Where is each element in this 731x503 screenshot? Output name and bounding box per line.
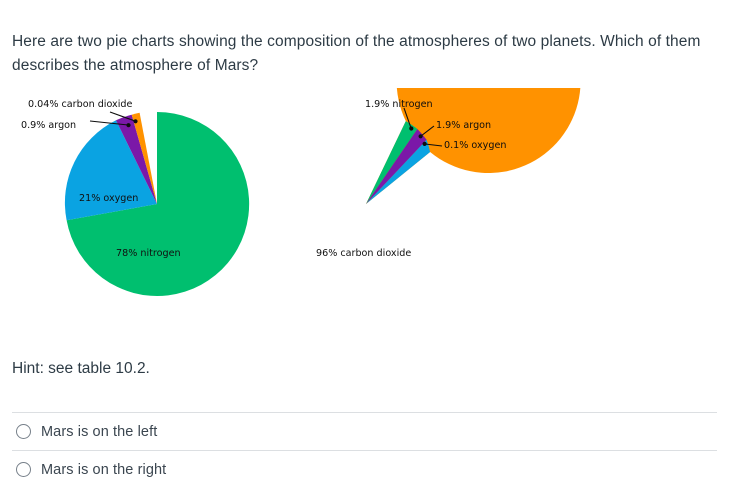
left-pie-label-argon: 0.9% argon <box>21 120 76 131</box>
right-pie-label-argon: 1.9% argon <box>436 120 491 131</box>
answer-options-list: Mars is on the left Mars is on the right <box>12 412 717 488</box>
slice-argon-right <box>366 129 427 204</box>
left-pie-label-carbon-dioxide: 0.04% carbon dioxide <box>28 99 132 110</box>
question-prompt: Here are two pie charts showing the comp… <box>12 30 718 78</box>
hint-text: Hint: see table 10.2. <box>12 357 150 380</box>
right-leader-dot-argon <box>419 134 423 138</box>
answer-label-left: Mars is on the left <box>41 424 157 440</box>
right-pie-label-nitrogen: 1.9% nitrogen <box>365 99 433 110</box>
left-pie-label-oxygen: 21% oxygen <box>79 193 138 204</box>
left-pie-chart: 21% oxygen 78% nitrogen 0.04% carbon dio… <box>21 99 249 296</box>
right-pie-label-oxygen: 0.1% oxygen <box>444 140 506 151</box>
radio-button-icon-right[interactable] <box>16 462 31 477</box>
left-leader-dot-carbon-dioxide <box>133 119 137 123</box>
right-leader-dot-oxygen <box>423 142 427 146</box>
pie-charts-svg: 21% oxygen 78% nitrogen 0.04% carbon dio… <box>0 88 731 313</box>
answer-option-right[interactable]: Mars is on the right <box>12 450 717 488</box>
right-pie-chart: 96% carbon dioxide 1.9% nitrogen 1.9% ar… <box>316 88 581 259</box>
pie-charts-figure: 21% oxygen 78% nitrogen 0.04% carbon dio… <box>0 88 731 313</box>
right-pie-label-carbon-dioxide: 96% carbon dioxide <box>316 248 411 259</box>
right-leader-dot-nitrogen <box>409 126 413 130</box>
answer-label-right: Mars is on the right <box>41 462 166 478</box>
left-pie-label-nitrogen: 78% nitrogen <box>116 248 181 259</box>
left-leader-dot-argon <box>126 123 130 127</box>
radio-button-icon-left[interactable] <box>16 424 31 439</box>
answer-option-left[interactable]: Mars is on the left <box>12 412 717 450</box>
